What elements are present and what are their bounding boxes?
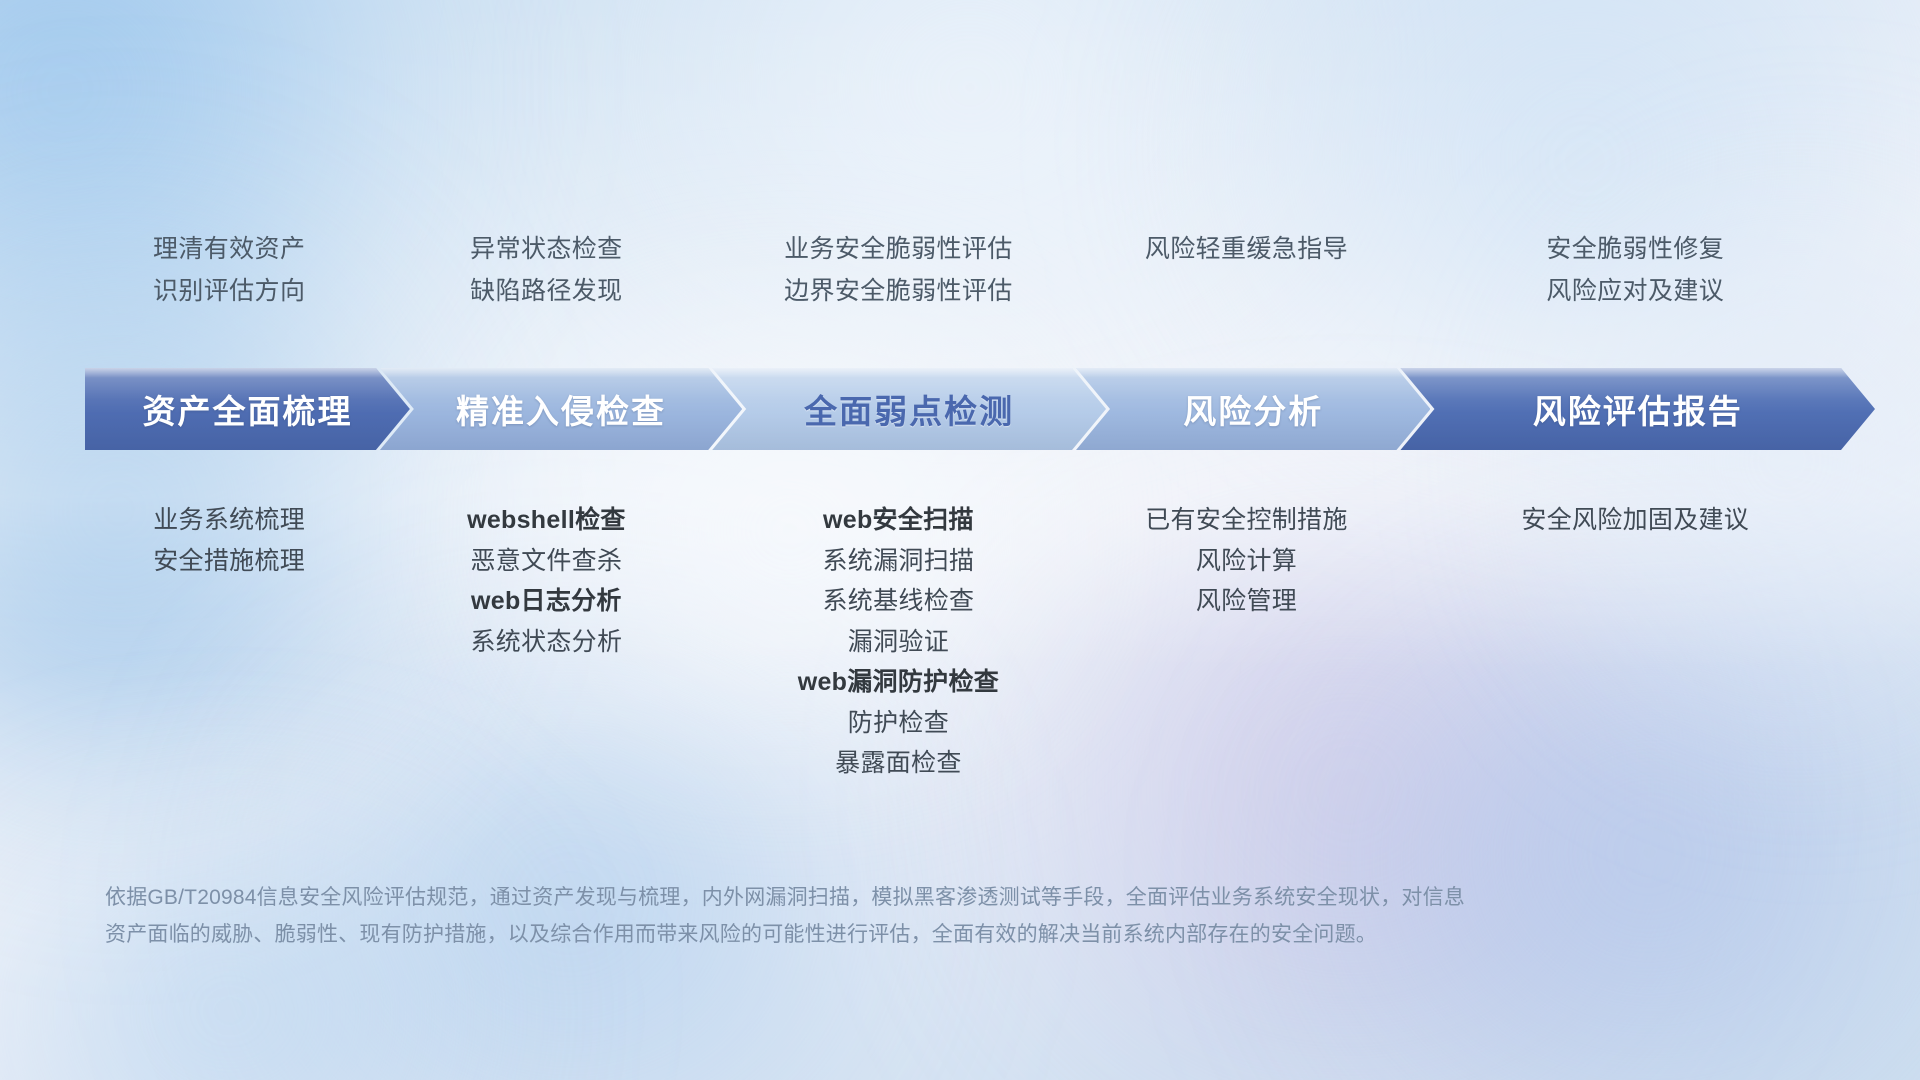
detail-line: web安全扫描 xyxy=(823,500,974,541)
detail-column-precise-intrusion-check: webshell检查恶意文件查杀web日志分析系统状态分析 xyxy=(378,500,714,784)
detail-line: 系统状态分析 xyxy=(470,622,622,663)
top-note-line: 理清有效资产 xyxy=(153,228,305,270)
top-note-line: 业务安全脆弱性评估 xyxy=(784,228,1013,270)
stage-chevron-risk-assessment-report[interactable]: 风险评估报告 xyxy=(1400,368,1875,450)
detail-line: 安全措施梳理 xyxy=(153,541,305,582)
detail-line: 恶意文件查杀 xyxy=(470,541,622,582)
top-note-column-precise-intrusion-check: 异常状态检查缺陷路径发现 xyxy=(378,228,714,338)
slide-canvas: 理清有效资产识别评估方向异常状态检查缺陷路径发现业务安全脆弱性评估边界安全脆弱性… xyxy=(0,0,1920,1080)
detail-line: 业务系统梳理 xyxy=(153,500,305,541)
top-notes-row: 理清有效资产识别评估方向异常状态检查缺陷路径发现业务安全脆弱性评估边界安全脆弱性… xyxy=(80,228,1860,338)
top-note-column-full-weakness-detection: 业务安全脆弱性评估边界安全脆弱性评估 xyxy=(714,228,1082,338)
stage-title-asset-inventory: 资产全面梳理 xyxy=(142,385,352,433)
top-note-line: 识别评估方向 xyxy=(153,270,305,312)
detail-column-asset-inventory: 业务系统梳理安全措施梳理 xyxy=(80,500,378,784)
detail-column-risk-assessment-report: 安全风险加固及建议 xyxy=(1411,500,1860,784)
detail-line: 安全风险加固及建议 xyxy=(1521,500,1749,541)
diagram-content: 理清有效资产识别评估方向异常状态检查缺陷路径发现业务安全脆弱性评估边界安全脆弱性… xyxy=(0,0,1920,1080)
stage-chevron-full-weakness-detection[interactable]: 全面弱点检测 xyxy=(712,368,1106,450)
top-note-column-risk-assessment-report: 安全脆弱性修复风险应对及建议 xyxy=(1411,228,1860,338)
stage-chevron-asset-inventory[interactable]: 资产全面梳理 xyxy=(85,368,410,450)
detail-line: 风险管理 xyxy=(1196,581,1297,622)
caption-line-1: 依据GB/T20984信息安全风险评估规范，通过资产发现与梳理，内外网漏洞扫描，… xyxy=(105,880,1625,917)
stage-title-full-weakness-detection: 全面弱点检测 xyxy=(804,385,1014,433)
top-note-line: 缺陷路径发现 xyxy=(470,270,622,312)
detail-line: web漏洞防护检查 xyxy=(798,662,999,703)
top-note-line: 安全脆弱性修复 xyxy=(1546,228,1724,270)
detail-line: 风险计算 xyxy=(1196,541,1297,582)
caption-line-2: 资产面临的威胁、脆弱性、现有防护措施，以及综合作用而带来风险的可能性进行评估，全… xyxy=(105,917,1625,954)
stage-title-risk-analysis: 风险分析 xyxy=(1183,385,1323,433)
top-note-line: 风险轻重缓急指导 xyxy=(1145,228,1348,270)
top-note-line: 风险应对及建议 xyxy=(1546,270,1724,312)
detail-line: 系统基线检查 xyxy=(823,581,975,622)
top-note-column-risk-analysis: 风险轻重缓急指导 xyxy=(1082,228,1410,338)
detail-column-risk-analysis: 已有安全控制措施风险计算风险管理 xyxy=(1082,500,1410,784)
stage-chevron-precise-intrusion-check[interactable]: 精准入侵检查 xyxy=(380,368,742,450)
top-note-line: 异常状态检查 xyxy=(470,228,622,270)
detail-line: 已有安全控制措施 xyxy=(1145,500,1347,541)
top-note-line: 边界安全脆弱性评估 xyxy=(784,270,1013,312)
process-arrow-band: 资产全面梳理精准入侵检查全面弱点检测风险分析风险评估报告 xyxy=(85,368,1845,450)
detail-column-full-weakness-detection: web安全扫描系统漏洞扫描系统基线检查漏洞验证web漏洞防护检查防护检查暴露面检… xyxy=(714,500,1082,784)
detail-line: 系统漏洞扫描 xyxy=(823,541,975,582)
detail-line: 漏洞验证 xyxy=(848,622,949,663)
top-note-column-asset-inventory: 理清有效资产识别评估方向 xyxy=(80,228,378,338)
stage-chevron-risk-analysis[interactable]: 风险分析 xyxy=(1076,368,1430,450)
detail-line: 暴露面检查 xyxy=(835,743,962,784)
stage-title-risk-assessment-report: 风险评估报告 xyxy=(1533,385,1743,433)
detail-line: web日志分析 xyxy=(471,581,622,622)
footer-caption: 依据GB/T20984信息安全风险评估规范，通过资产发现与梳理，内外网漏洞扫描，… xyxy=(105,880,1625,954)
stage-title-precise-intrusion-check: 精准入侵检查 xyxy=(456,385,666,433)
detail-line: webshell检查 xyxy=(467,500,626,541)
detail-columns-row: 业务系统梳理安全措施梳理webshell检查恶意文件查杀web日志分析系统状态分… xyxy=(80,500,1860,784)
detail-line: 防护检查 xyxy=(848,703,949,744)
